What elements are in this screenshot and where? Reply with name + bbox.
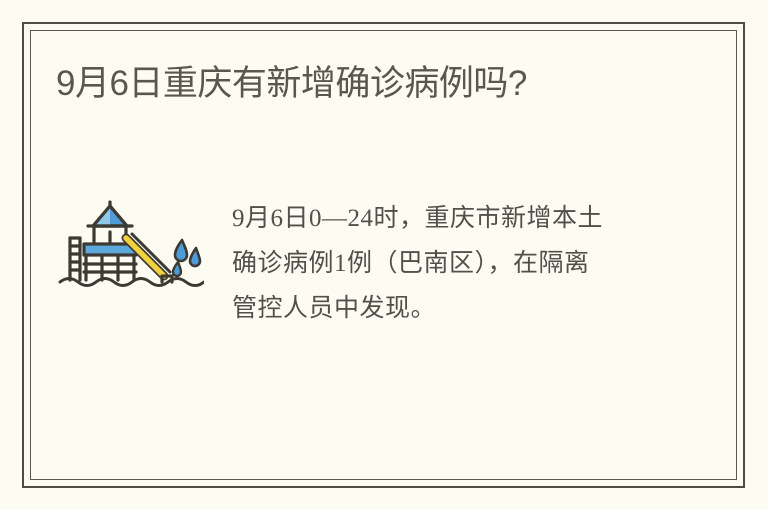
article-card-page: 9月6日重庆有新增确诊病例吗? — [0, 0, 768, 510]
body-line: 9月6日0—24时，重庆市新增本土 — [232, 196, 688, 241]
page-title: 9月6日重庆有新增确诊病例吗? — [56, 63, 696, 105]
body-line: 确诊病例1例（巴南区），在隔离 — [232, 241, 688, 286]
article-body-block: 9月6日0—24时，重庆市新增本土 确诊病例1例（巴南区），在隔离 管控人员中发… — [56, 196, 696, 346]
water-park-slide-icon — [56, 200, 204, 292]
card-content: 9月6日重庆有新增确诊病例吗? — [0, 0, 768, 510]
body-line: 管控人员中发现。 — [232, 286, 688, 331]
article-body-text: 9月6日0—24时，重庆市新增本土 确诊病例1例（巴南区），在隔离 管控人员中发… — [232, 196, 688, 331]
